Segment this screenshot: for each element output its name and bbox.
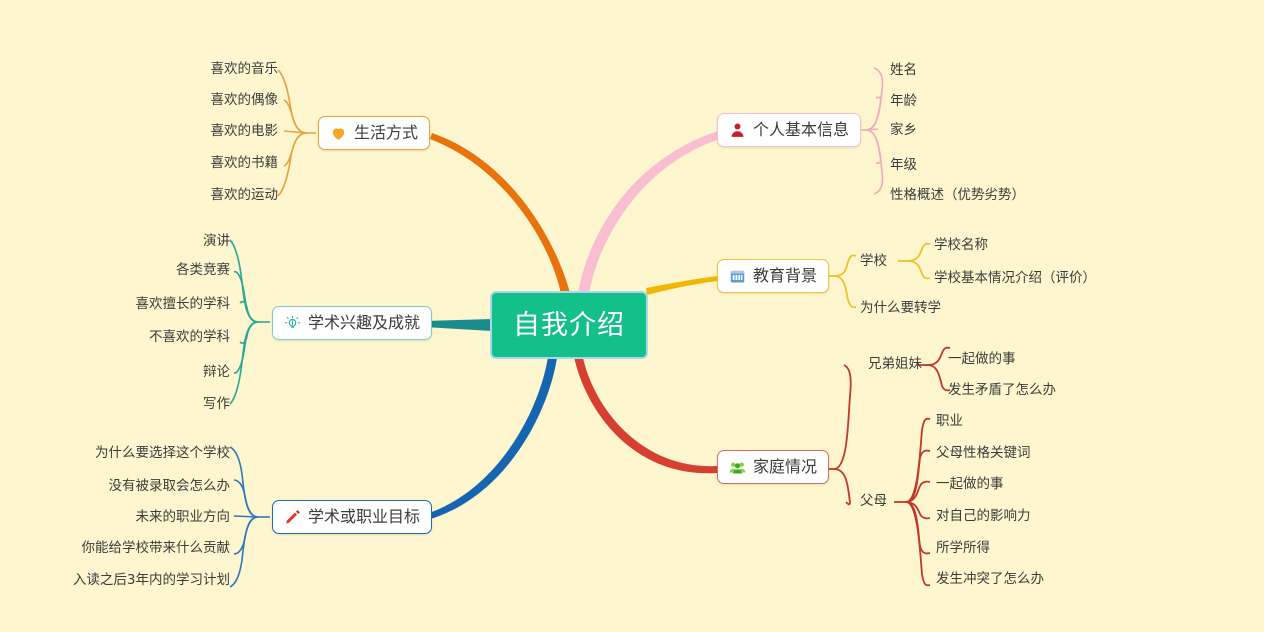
leaf-family-parents-child-1[interactable]: 父母性格关键词 (936, 447, 1031, 461)
lightbulb-icon (284, 315, 301, 332)
branch-education[interactable]: 教育背景 (717, 259, 829, 293)
branch-academic-label: 学术兴趣及成就 (308, 315, 420, 331)
leaf-family-siblings[interactable]: 兄弟姐妹 (868, 358, 922, 372)
heart-icon (330, 125, 347, 142)
leaf-lifestyle-1[interactable]: 喜欢的偶像 (88, 94, 278, 108)
pencil-icon (284, 509, 301, 526)
leaf-lifestyle-4[interactable]: 喜欢的运动 (88, 189, 278, 203)
leaf-academic-2[interactable]: 喜欢擅长的学科 (40, 298, 230, 312)
leaf-family-parents[interactable]: 父母 (860, 495, 887, 509)
wire-center-lifestyle (430, 133, 570, 294)
center-node[interactable]: 自我介绍 (490, 291, 648, 359)
leaf-academic-0[interactable]: 演讲 (40, 235, 230, 249)
leaf-goal-0[interactable]: 为什么要选择这个学校 (30, 447, 230, 461)
wire-center-education (646, 276, 718, 295)
wires-academic (230, 240, 270, 404)
leaf-goal-2[interactable]: 未来的职业方向 (30, 511, 230, 525)
leaf-personal-1[interactable]: 年龄 (890, 95, 1130, 109)
branch-goal-label: 学术或职业目标 (308, 509, 420, 525)
leaf-lifestyle-0[interactable]: 喜欢的音乐 (88, 63, 278, 77)
leaf-personal-0[interactable]: 姓名 (890, 64, 1130, 78)
calendar-icon (729, 268, 746, 285)
wires-family (822, 348, 950, 586)
leaf-education-school-child-0[interactable]: 学校名称 (934, 239, 988, 253)
branch-lifestyle-label: 生活方式 (354, 125, 418, 141)
branch-personal-label: 个人基本信息 (753, 122, 849, 138)
leaf-goal-4[interactable]: 入读之后3年内的学习计划 (30, 574, 230, 588)
leaf-family-parents-child-2[interactable]: 一起做的事 (936, 478, 1004, 492)
leaf-family-parents-child-3[interactable]: 对自己的影响力 (936, 510, 1031, 524)
leaf-lifestyle-3[interactable]: 喜欢的书籍 (88, 157, 278, 171)
branch-lifestyle[interactable]: 生活方式 (318, 116, 430, 150)
leaf-academic-3[interactable]: 不喜欢的学科 (40, 331, 230, 345)
leaf-education-transfer[interactable]: 为什么要转学 (860, 302, 941, 316)
wire-center-goal (426, 357, 557, 520)
leaf-academic-1[interactable]: 各类竞赛 (40, 264, 230, 278)
leaf-education-school-child-1[interactable]: 学校基本情况介绍（评价） (934, 272, 1096, 286)
leaf-personal-2[interactable]: 家乡 (890, 124, 1130, 138)
leaf-personal-3[interactable]: 年级 (890, 159, 1130, 173)
people-icon (729, 459, 746, 476)
branch-education-label: 教育背景 (753, 268, 817, 284)
mindmap-canvas: 自我介绍 生活方式 喜欢的音乐 喜欢的偶像 喜欢的电影 喜欢的书籍 喜欢的运动 … (0, 0, 1264, 632)
leaf-family-parents-child-0[interactable]: 职业 (936, 415, 963, 429)
wire-center-personal (578, 131, 720, 294)
branch-family-label: 家庭情况 (753, 459, 817, 475)
branch-academic[interactable]: 学术兴趣及成就 (272, 306, 432, 340)
center-node-label: 自我介绍 (513, 312, 625, 339)
leaf-academic-5[interactable]: 写作 (40, 398, 230, 412)
branch-family[interactable]: 家庭情况 (717, 450, 829, 484)
leaf-academic-4[interactable]: 辩论 (40, 366, 230, 380)
branch-personal[interactable]: 个人基本信息 (717, 113, 861, 147)
person-icon (729, 122, 746, 139)
leaf-family-parents-child-4[interactable]: 所学所得 (936, 542, 990, 556)
wire-center-academic (424, 319, 492, 331)
wires-lifestyle (278, 70, 316, 196)
branch-goal[interactable]: 学术或职业目标 (272, 500, 432, 534)
leaf-personal-4[interactable]: 性格概述（优势劣势） (890, 189, 1130, 203)
wires-goal (230, 447, 270, 587)
leaf-goal-3[interactable]: 你能给学校带来什么贡献 (30, 542, 230, 556)
leaf-family-parents-child-5[interactable]: 发生冲突了怎么办 (936, 573, 1044, 587)
wire-center-family (574, 357, 717, 473)
leaf-family-siblings-child-1[interactable]: 发生矛盾了怎么办 (948, 384, 1056, 398)
leaf-family-siblings-child-0[interactable]: 一起做的事 (948, 353, 1016, 367)
leaf-education-school[interactable]: 学校 (860, 255, 887, 269)
leaf-goal-1[interactable]: 没有被录取会怎么办 (30, 480, 230, 494)
leaf-lifestyle-2[interactable]: 喜欢的电影 (88, 125, 278, 139)
